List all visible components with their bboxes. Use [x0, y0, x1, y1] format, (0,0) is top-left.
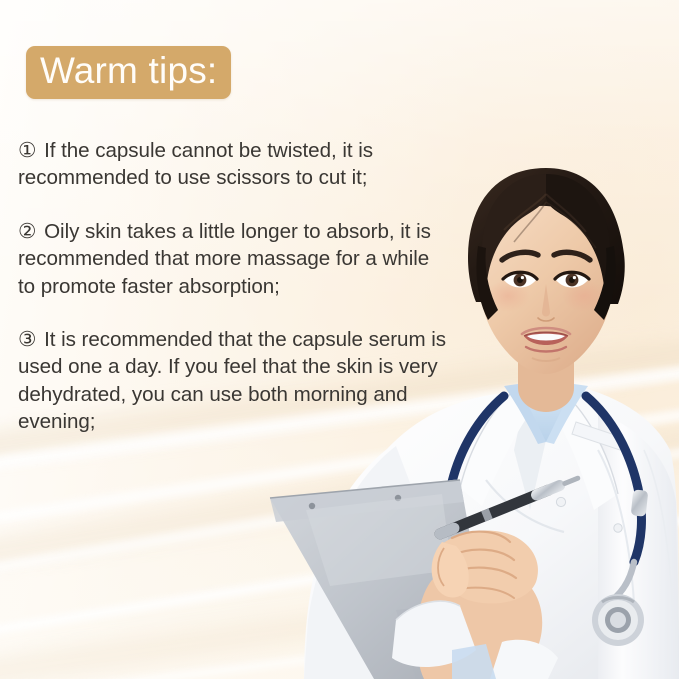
tip-item: ③ It is recommended that the capsule ser… [18, 326, 450, 436]
tip-marker: ③ [18, 328, 36, 351]
warm-tips-poster: Warm tips: ① If the capsule cannot be tw… [0, 0, 679, 679]
stethoscope-chestpiece [592, 594, 644, 646]
tip-text: It is recommended that the capsule serum… [18, 328, 446, 433]
warm-tips-badge: Warm tips: [26, 46, 231, 99]
tip-item: ① If the capsule cannot be twisted, it i… [18, 137, 450, 192]
head [468, 168, 625, 374]
tip-text: If the capsule cannot be twisted, it is … [18, 139, 373, 189]
tip-text: Oily skin takes a little longer to absor… [18, 220, 431, 298]
tips-list: ① If the capsule cannot be twisted, it i… [18, 137, 450, 435]
tip-marker: ② [18, 220, 36, 243]
tip-item: ② Oily skin takes a little longer to abs… [18, 218, 450, 300]
tip-marker: ① [18, 139, 36, 162]
